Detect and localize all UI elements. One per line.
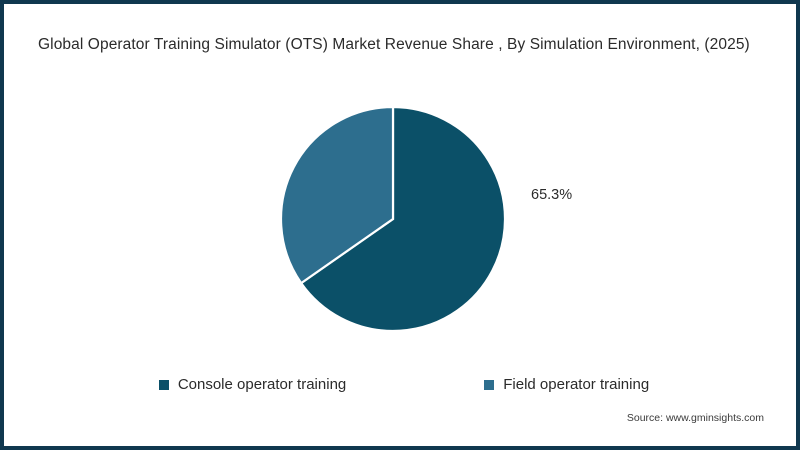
chart-legend: Console operator training Field operator… bbox=[4, 376, 800, 394]
pie-chart bbox=[281, 107, 505, 331]
pie-value-label-console-operator-training: 65.3% bbox=[531, 187, 572, 203]
legend-item-label: Field operator training bbox=[503, 376, 649, 394]
page-title: Global Operator Training Simulator (OTS)… bbox=[38, 34, 780, 55]
source-attribution: Source: www.gminsights.com bbox=[627, 412, 764, 424]
legend-item-field-operator-training[interactable]: Field operator training bbox=[484, 376, 649, 394]
legend-item-console-operator-training[interactable]: Console operator training bbox=[159, 376, 346, 394]
legend-swatch-icon bbox=[484, 380, 494, 390]
chart-figure: Global Operator Training Simulator (OTS)… bbox=[0, 0, 800, 450]
legend-item-label: Console operator training bbox=[178, 376, 346, 394]
legend-swatch-icon bbox=[159, 380, 169, 390]
pie-chart-svg bbox=[281, 107, 505, 331]
